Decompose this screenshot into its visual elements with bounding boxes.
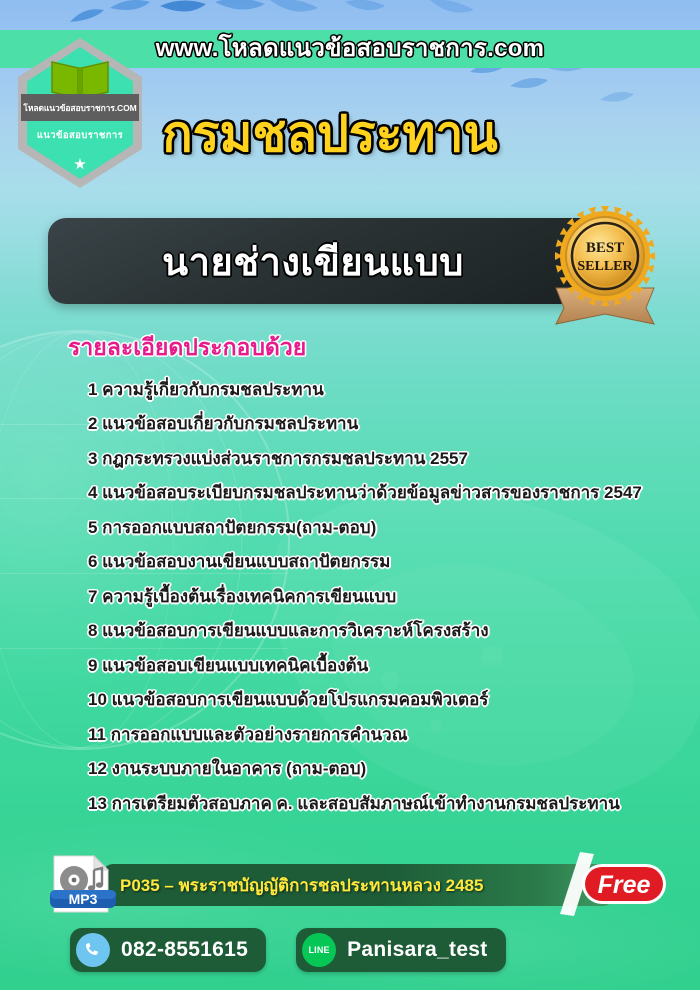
free-label: Free xyxy=(598,871,651,899)
position-title-bar: นายช่างเขียนแบบ xyxy=(48,218,608,304)
mp3-track-text: P035 – พระราชบัญญัติการชลประทานหลวง 2485 xyxy=(120,862,483,908)
topic-list-item: 13 การเตรียมตัวสอบภาค ค. และสอบสัมภาษณ์เ… xyxy=(88,786,688,821)
line-icon-label: LINE xyxy=(308,945,329,955)
best-seller-line2: SELLER xyxy=(577,259,633,274)
position-title-text: นายช่างเขียนแบบ xyxy=(162,231,494,292)
topic-list-item: 10 แนวข้อสอบการเขียนแบบด้วยโปรแกรมคอมพิว… xyxy=(88,683,688,718)
topic-list-item: 6 แนวข้อสอบงานเขียนแบบสถาปัตยกรรม xyxy=(88,545,688,580)
phone-number: 082-8551615 xyxy=(121,938,248,962)
topic-list-item: 1 ความรู้เกี่ยวกับกรมชลประทาน xyxy=(88,372,688,407)
best-seller-line1: BEST xyxy=(586,240,624,256)
poster-root: www.โหลดแนวข้อสอบราชการ.com โหลดแนวข้อสอ… xyxy=(0,0,700,990)
topic-list-item: 5 การออกแบบสถาปัตยกรรม(ถาม-ตอบ) xyxy=(88,510,688,545)
phone-icon xyxy=(76,933,110,967)
topic-list-item: 4 แนวข้อสอบระเบียบกรมชลประทานว่าด้วยข้อม… xyxy=(88,476,688,511)
line-pill[interactable]: LINE Panisara_test xyxy=(296,928,505,972)
department-title: กรมชลประทาน xyxy=(0,108,700,161)
mp3-icon-label: MP3 xyxy=(69,891,98,907)
mp3-file-icon: MP3 xyxy=(48,854,120,916)
phone-pill[interactable]: 082-8551615 xyxy=(70,928,266,972)
topic-list-item: 2 แนวข้อสอบเกี่ยวกับกรมชลประทาน xyxy=(88,407,688,442)
mp3-row: P035 – พระราชบัญญัติการชลประทานหลวง 2485… xyxy=(48,862,652,910)
topic-list-item: 9 แนวข้อสอบเขียนแบบเทคนิคเบื้องต้น xyxy=(88,648,688,683)
topic-list-item: 3 กฎกระทรวงแบ่งส่วนราชการกรมชลประทาน 255… xyxy=(88,441,688,476)
details-heading: รายละเอียดประกอบด้วย xyxy=(68,330,306,366)
best-seller-badge: BEST SELLER xyxy=(546,204,664,328)
line-icon: LINE xyxy=(302,933,336,967)
topic-list-item: 12 งานระบบภายในอาคาร (ถาม-ตอบ) xyxy=(88,752,688,787)
topic-list-item: 8 แนวข้อสอบการเขียนแบบและการวิเคราะห์โคร… xyxy=(88,614,688,649)
line-id: Panisara_test xyxy=(347,938,487,962)
topic-list: 1 ความรู้เกี่ยวกับกรมชลประทาน2 แนวข้อสอบ… xyxy=(88,372,688,821)
topic-list-item: 11 การออกแบบและตัวอย่างรายการคำนวณ xyxy=(88,717,688,752)
free-badge: Free xyxy=(556,852,668,918)
contact-row: 082-8551615 LINE Panisara_test xyxy=(70,928,506,972)
topic-list-item: 7 ความรู้เบื้องต้นเรื่องเทคนิคการเขียนแบ… xyxy=(88,579,688,614)
